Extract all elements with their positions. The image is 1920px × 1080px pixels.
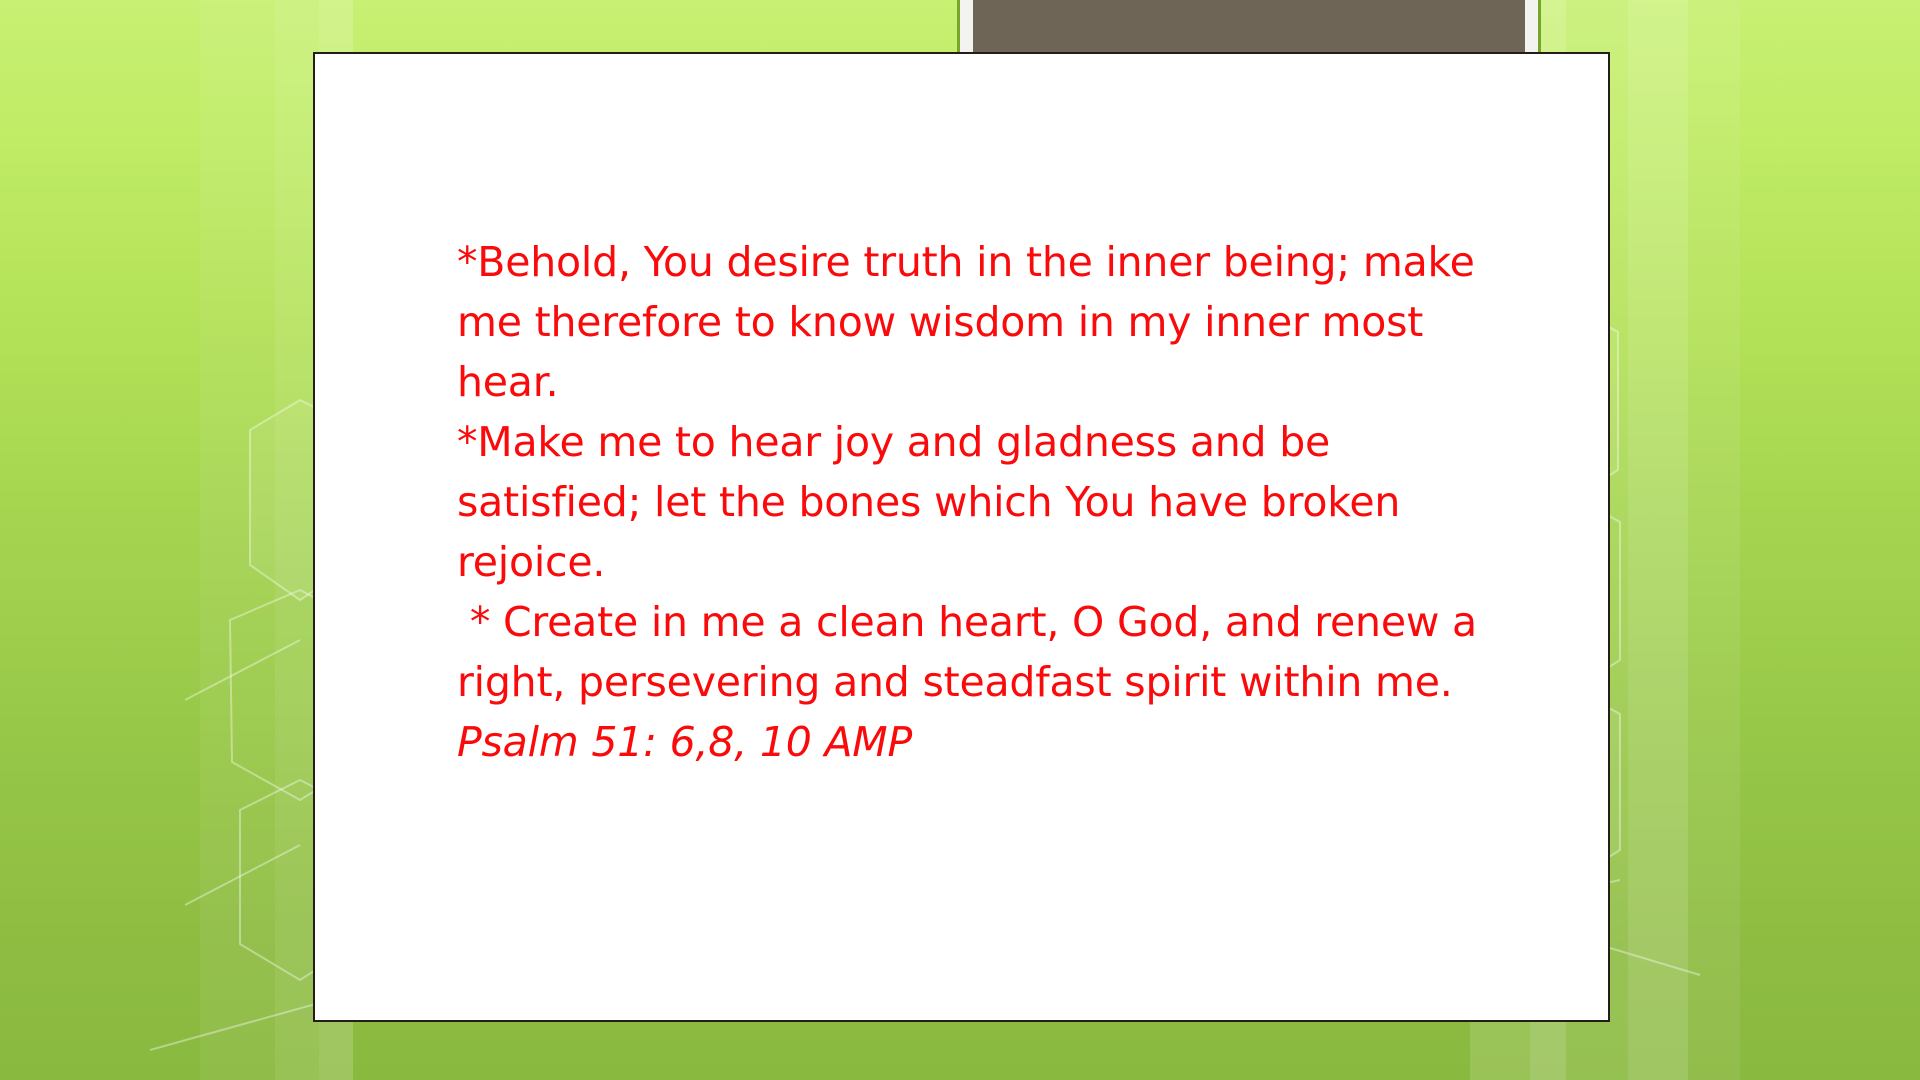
scripture-paragraph-3: * Create in me a clean heart, O God, and… [457, 592, 1487, 772]
scripture-paragraph-2: *Make me to hear joy and gladness and be… [457, 412, 1487, 592]
slide-content-card: *Behold, You desire truth in the inner b… [313, 52, 1610, 1022]
scripture-paragraph-1: *Behold, You desire truth in the inner b… [457, 232, 1487, 412]
presentation-slide: *Behold, You desire truth in the inner b… [0, 0, 1920, 1080]
scripture-paragraph-3-text: * Create in me a clean heart, O God, and… [457, 598, 1490, 706]
scripture-citation: Psalm 51: 6,8, 10 AMP [457, 718, 912, 766]
scripture-text-block[interactable]: *Behold, You desire truth in the inner b… [457, 232, 1487, 772]
